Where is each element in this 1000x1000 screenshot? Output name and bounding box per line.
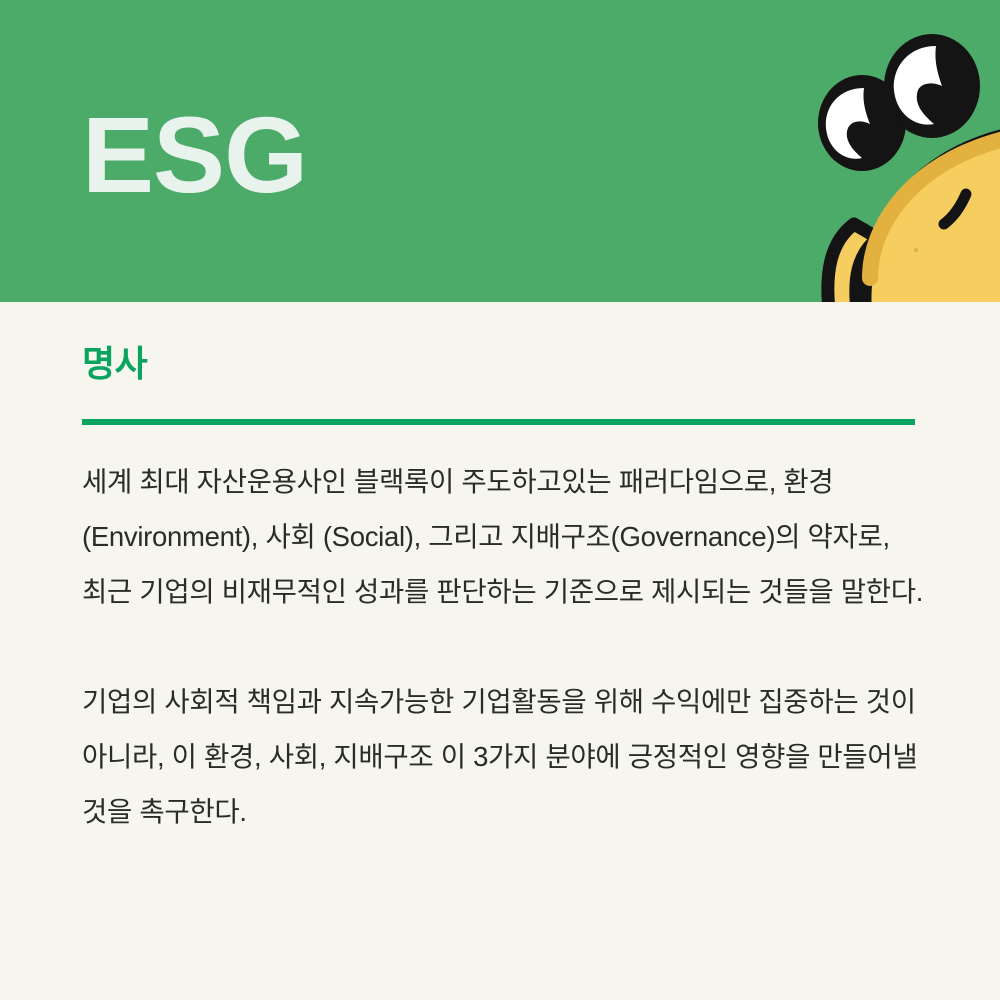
definition-card: ESG	[0, 0, 1000, 1000]
header-banner: ESG	[0, 0, 1000, 302]
section-divider	[82, 419, 915, 425]
page-title: ESG	[82, 98, 307, 211]
frog-mascot-icon	[800, 28, 1000, 302]
definition-paragraph-2: 기업의 사회적 책임과 지속가능한 기업활동을 위해 수익에만 집중하는 것이 …	[82, 674, 924, 839]
definition-text: 세계 최대 자산운용사인 블랙록이 주도하고있는 패러다임으로, 환경 (Env…	[82, 454, 924, 839]
part-of-speech-label: 명사	[82, 346, 147, 382]
definition-body: 명사 세계 최대 자산운용사인 블랙록이 주도하고있는 패러다임으로, 환경 (…	[0, 302, 1000, 1000]
definition-paragraph-1: 세계 최대 자산운용사인 블랙록이 주도하고있는 패러다임으로, 환경 (Env…	[82, 454, 924, 619]
